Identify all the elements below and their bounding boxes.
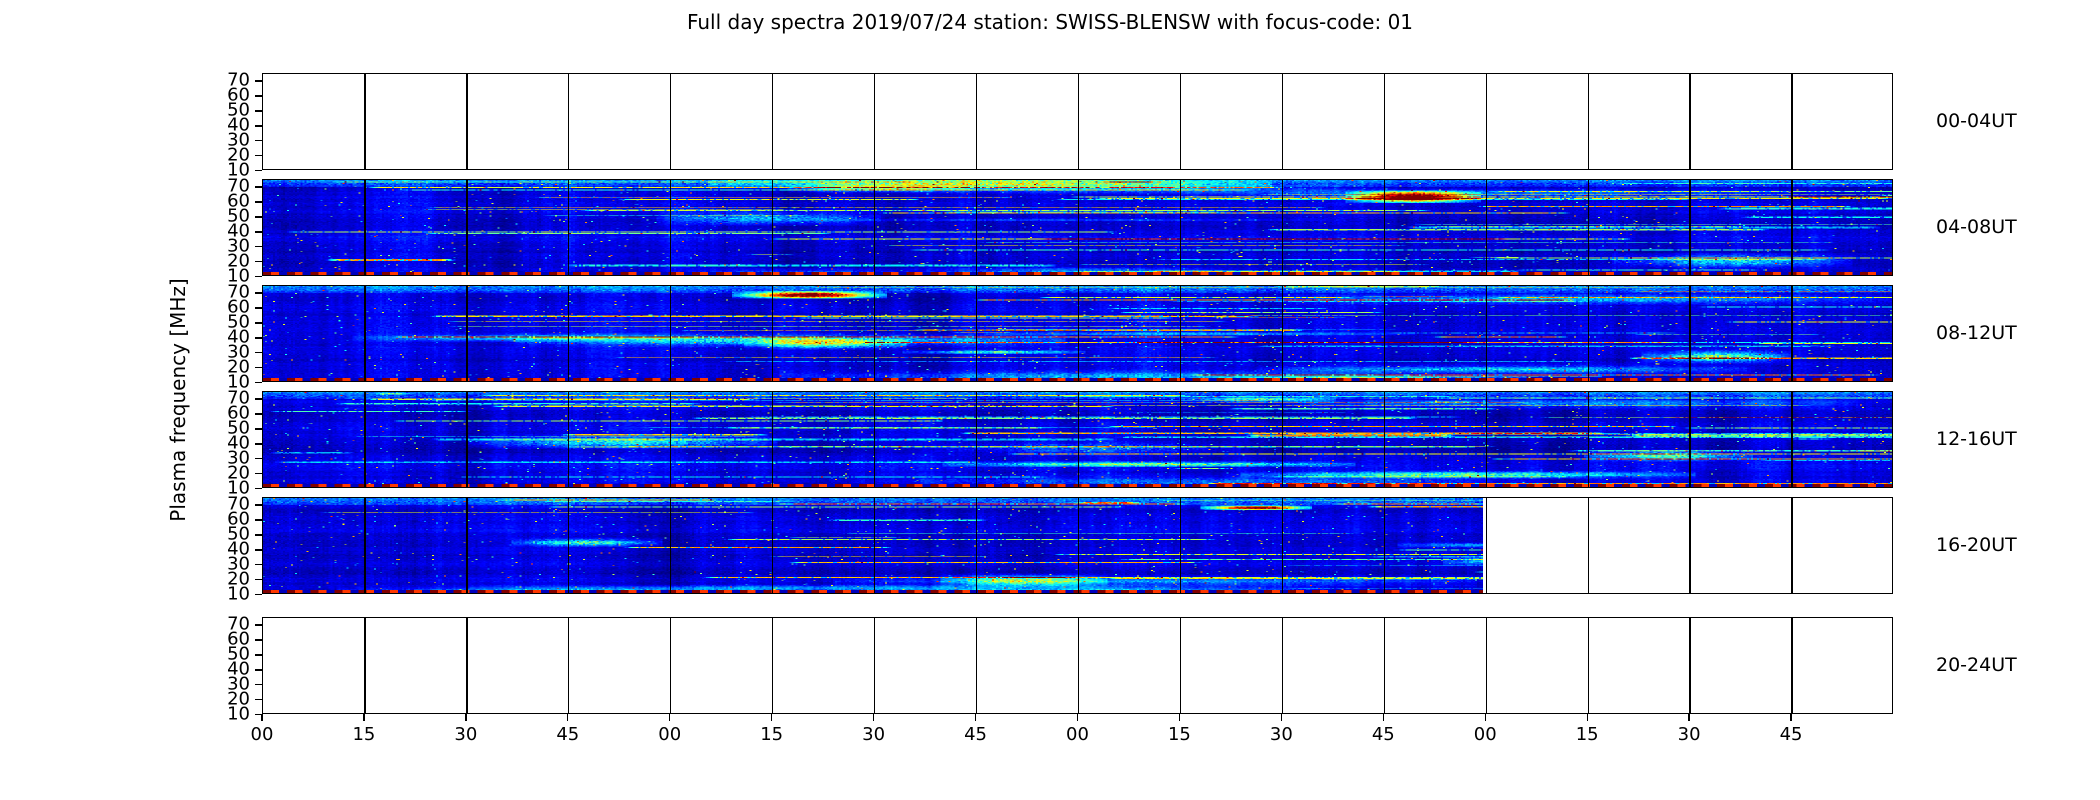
- panel-label-08-12ut: 08-12UT: [1936, 322, 2017, 344]
- panel-gridline: [1486, 286, 1487, 382]
- panel-gridline: [874, 286, 875, 382]
- y-tick-mark: [255, 186, 262, 187]
- panel-gridline: [364, 618, 365, 714]
- y-tick-mark: [255, 140, 262, 141]
- panel-gridline: [772, 180, 773, 276]
- y-tick-label: 10: [210, 584, 250, 605]
- panel-gridline: [1282, 498, 1283, 594]
- panel-gridline: [364, 498, 365, 594]
- x-tick-label: 15: [352, 724, 375, 745]
- panel-gridline: [874, 180, 875, 276]
- panel-gridline: [1791, 286, 1792, 382]
- panel-gridline: [466, 180, 467, 276]
- panel-gridline: [670, 286, 671, 382]
- panel-gridline: [1588, 286, 1589, 382]
- y-tick-mark: [255, 261, 262, 262]
- spectrogram-panel-08-12ut: [262, 285, 1893, 382]
- y-tick-mark: [255, 458, 262, 459]
- panel-gridline: [1282, 286, 1283, 382]
- y-tick-mark: [255, 428, 262, 429]
- y-tick-mark: [255, 292, 262, 293]
- panel-gridline: [1486, 74, 1487, 170]
- panel-gridline: [1180, 392, 1181, 488]
- panel-gridline: [1384, 498, 1385, 594]
- panel-gridline: [1588, 618, 1589, 714]
- x-tick-mark: [465, 714, 466, 721]
- x-tick-label: 30: [454, 724, 477, 745]
- panel-gridline: [1791, 180, 1792, 276]
- panel-gridline: [976, 74, 977, 170]
- panel-gridline: [1180, 498, 1181, 594]
- x-tick-mark: [1383, 714, 1384, 721]
- y-tick-mark: [255, 549, 262, 550]
- panel-gridline: [568, 286, 569, 382]
- y-tick-mark: [255, 201, 262, 202]
- x-tick-label: 00: [1474, 724, 1497, 745]
- x-tick-mark: [771, 714, 772, 721]
- y-tick-mark: [255, 337, 262, 338]
- panel-gridline: [364, 74, 365, 170]
- y-tick-label: 10: [210, 704, 250, 725]
- panel-gridline: [568, 618, 569, 714]
- panel-gridline: [1588, 498, 1589, 594]
- panel-gridline: [1791, 392, 1792, 488]
- panel-gridline: [568, 74, 569, 170]
- x-tick-label: 15: [1576, 724, 1599, 745]
- panel-gridline: [1180, 618, 1181, 714]
- y-tick-mark: [255, 534, 262, 535]
- panel-gridline: [1588, 74, 1589, 170]
- y-axis-label: Plasma frequency [MHz]: [166, 278, 190, 521]
- x-tick-mark: [975, 714, 976, 721]
- panel-gridline: [1078, 180, 1079, 276]
- y-tick-mark: [255, 624, 262, 625]
- panel-gridline: [1689, 498, 1690, 594]
- panel-gridline: [1384, 74, 1385, 170]
- x-tick-mark: [1688, 714, 1689, 721]
- y-tick-mark: [255, 504, 262, 505]
- panel-gridline: [1486, 180, 1487, 276]
- x-tick-mark: [1790, 714, 1791, 721]
- x-tick-label: 45: [556, 724, 579, 745]
- y-tick-mark: [255, 473, 262, 474]
- panel-gridline: [568, 180, 569, 276]
- x-tick-mark: [1281, 714, 1282, 721]
- x-tick-label: 30: [1678, 724, 1701, 745]
- panel-gridline: [1588, 180, 1589, 276]
- y-tick-mark: [255, 80, 262, 81]
- y-tick-mark: [255, 216, 262, 217]
- x-tick-label: 00: [658, 724, 681, 745]
- x-tick-label: 45: [1780, 724, 1803, 745]
- panel-gridline: [1282, 392, 1283, 488]
- y-tick-mark: [255, 579, 262, 580]
- spectrogram-panel-16-20ut: [262, 497, 1893, 594]
- panel-gridline: [772, 498, 773, 594]
- y-tick-mark: [255, 307, 262, 308]
- panel-gridline: [1078, 74, 1079, 170]
- y-tick-mark: [255, 382, 262, 383]
- panel-gridline: [1486, 618, 1487, 714]
- panel-gridline: [568, 392, 569, 488]
- panel-gridline: [670, 498, 671, 594]
- panel-gridline: [1384, 180, 1385, 276]
- panel-gridline: [874, 498, 875, 594]
- panel-gridline: [874, 392, 875, 488]
- x-tick-label: 00: [1066, 724, 1089, 745]
- spectrogram-figure: Full day spectra 2019/07/24 station: SWI…: [0, 0, 2100, 800]
- y-tick-mark: [255, 322, 262, 323]
- panel-gridline: [1078, 618, 1079, 714]
- x-tick-mark: [261, 714, 262, 721]
- panel-gridline: [670, 74, 671, 170]
- panel-gridline: [1384, 286, 1385, 382]
- panel-gridline: [874, 618, 875, 714]
- panel-gridline: [772, 392, 773, 488]
- panel-gridline: [874, 74, 875, 170]
- panel-gridline: [1078, 498, 1079, 594]
- x-tick-label: 30: [862, 724, 885, 745]
- panel-gridline: [1689, 74, 1690, 170]
- panel-gridline: [466, 392, 467, 488]
- panel-gridline: [1486, 392, 1487, 488]
- panel-gridline: [976, 618, 977, 714]
- panel-label-00-04ut: 00-04UT: [1936, 110, 2017, 132]
- panel-gridline: [364, 392, 365, 488]
- y-tick-mark: [255, 155, 262, 156]
- y-tick-mark: [255, 170, 262, 171]
- panel-gridline: [1689, 618, 1690, 714]
- panel-gridline: [1078, 286, 1079, 382]
- x-tick-mark: [1179, 714, 1180, 721]
- panel-gridline: [466, 498, 467, 594]
- y-tick-mark: [255, 352, 262, 353]
- panel-label-16-20ut: 16-20UT: [1936, 534, 2017, 556]
- y-tick-mark: [255, 519, 262, 520]
- spectrogram-panel-00-04ut: [262, 73, 1893, 170]
- panel-gridline: [364, 286, 365, 382]
- y-tick-mark: [255, 398, 262, 399]
- panel-gridline: [1282, 180, 1283, 276]
- panel-gridline: [976, 392, 977, 488]
- y-tick-mark: [255, 443, 262, 444]
- panel-gridline: [1791, 618, 1792, 714]
- panel-gridline: [976, 180, 977, 276]
- panel-gridline: [1588, 392, 1589, 488]
- panel-gridline: [466, 618, 467, 714]
- panel-gridline: [1180, 74, 1181, 170]
- x-tick-label: 15: [1168, 724, 1191, 745]
- x-tick-mark: [1077, 714, 1078, 721]
- y-tick-mark: [255, 246, 262, 247]
- panel-gridline: [1384, 618, 1385, 714]
- panel-gridline: [670, 618, 671, 714]
- spectrogram-panel-04-08ut: [262, 179, 1893, 276]
- y-tick-mark: [255, 669, 262, 670]
- page-title: Full day spectra 2019/07/24 station: SWI…: [0, 10, 2100, 34]
- spectrogram-panel-20-24ut: [262, 617, 1893, 714]
- panel-gridline: [1486, 498, 1487, 594]
- x-tick-mark: [567, 714, 568, 721]
- panel-label-12-16ut: 12-16UT: [1936, 428, 2017, 450]
- x-tick-mark: [669, 714, 670, 721]
- panel-gridline: [1078, 392, 1079, 488]
- y-tick-mark: [255, 654, 262, 655]
- y-tick-mark: [255, 699, 262, 700]
- y-tick-mark: [255, 413, 262, 414]
- panel-gridline: [1689, 286, 1690, 382]
- y-tick-mark: [255, 125, 262, 126]
- panel-label-20-24ut: 20-24UT: [1936, 654, 2017, 676]
- panel-gridline: [1384, 392, 1385, 488]
- y-tick-mark: [255, 276, 262, 277]
- x-tick-mark: [363, 714, 364, 721]
- panel-gridline: [1791, 498, 1792, 594]
- spectrogram-panel-12-16ut: [262, 391, 1893, 488]
- panel-gridline: [1791, 74, 1792, 170]
- panel-gridline: [1282, 618, 1283, 714]
- panel-label-04-08ut: 04-08UT: [1936, 216, 2017, 238]
- panel-gridline: [466, 74, 467, 170]
- y-tick-mark: [255, 367, 262, 368]
- y-tick-mark: [255, 488, 262, 489]
- panel-gridline: [364, 180, 365, 276]
- panel-gridline: [976, 286, 977, 382]
- y-tick-mark: [255, 564, 262, 565]
- x-tick-label: 30: [1270, 724, 1293, 745]
- panel-gridline: [772, 618, 773, 714]
- panel-gridline: [772, 74, 773, 170]
- panel-gridline: [1689, 180, 1690, 276]
- x-tick-label: 15: [760, 724, 783, 745]
- panel-gridline: [670, 392, 671, 488]
- x-tick-label: 45: [964, 724, 987, 745]
- panel-gridline: [1180, 286, 1181, 382]
- x-tick-label: 00: [251, 724, 274, 745]
- x-tick-mark: [1485, 714, 1486, 721]
- x-tick-mark: [873, 714, 874, 721]
- y-tick-mark: [255, 594, 262, 595]
- y-tick-mark: [255, 231, 262, 232]
- y-tick-mark: [255, 639, 262, 640]
- panel-gridline: [1282, 74, 1283, 170]
- x-tick-mark: [1587, 714, 1588, 721]
- x-tick-label: 45: [1372, 724, 1395, 745]
- y-tick-mark: [255, 110, 262, 111]
- panel-gridline: [772, 286, 773, 382]
- panel-gridline: [568, 498, 569, 594]
- y-tick-mark: [255, 684, 262, 685]
- panel-gridline: [466, 286, 467, 382]
- panel-gridline: [1180, 180, 1181, 276]
- panel-gridline: [976, 498, 977, 594]
- panel-gridline: [670, 180, 671, 276]
- y-tick-mark: [255, 95, 262, 96]
- panel-gridline: [1689, 392, 1690, 488]
